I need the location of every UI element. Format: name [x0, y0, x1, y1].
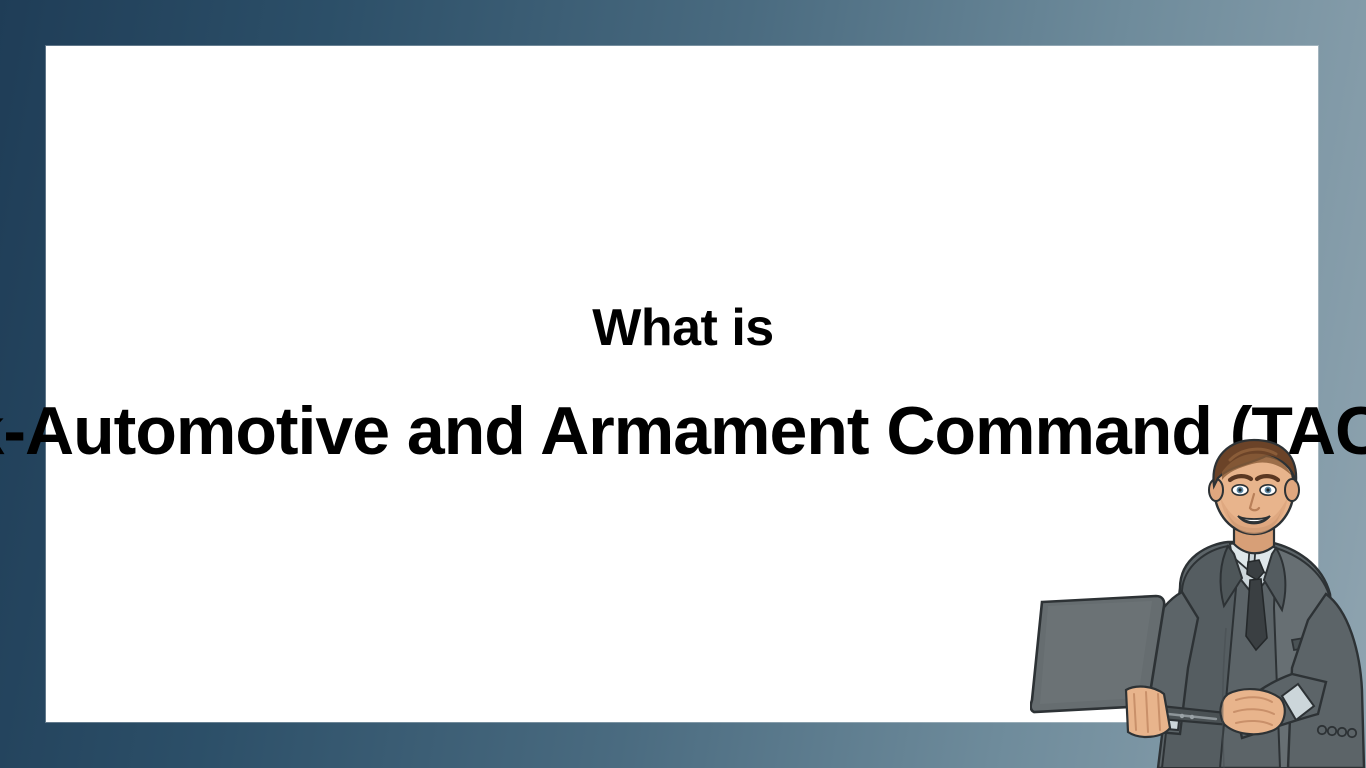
slide-card [46, 46, 1318, 722]
